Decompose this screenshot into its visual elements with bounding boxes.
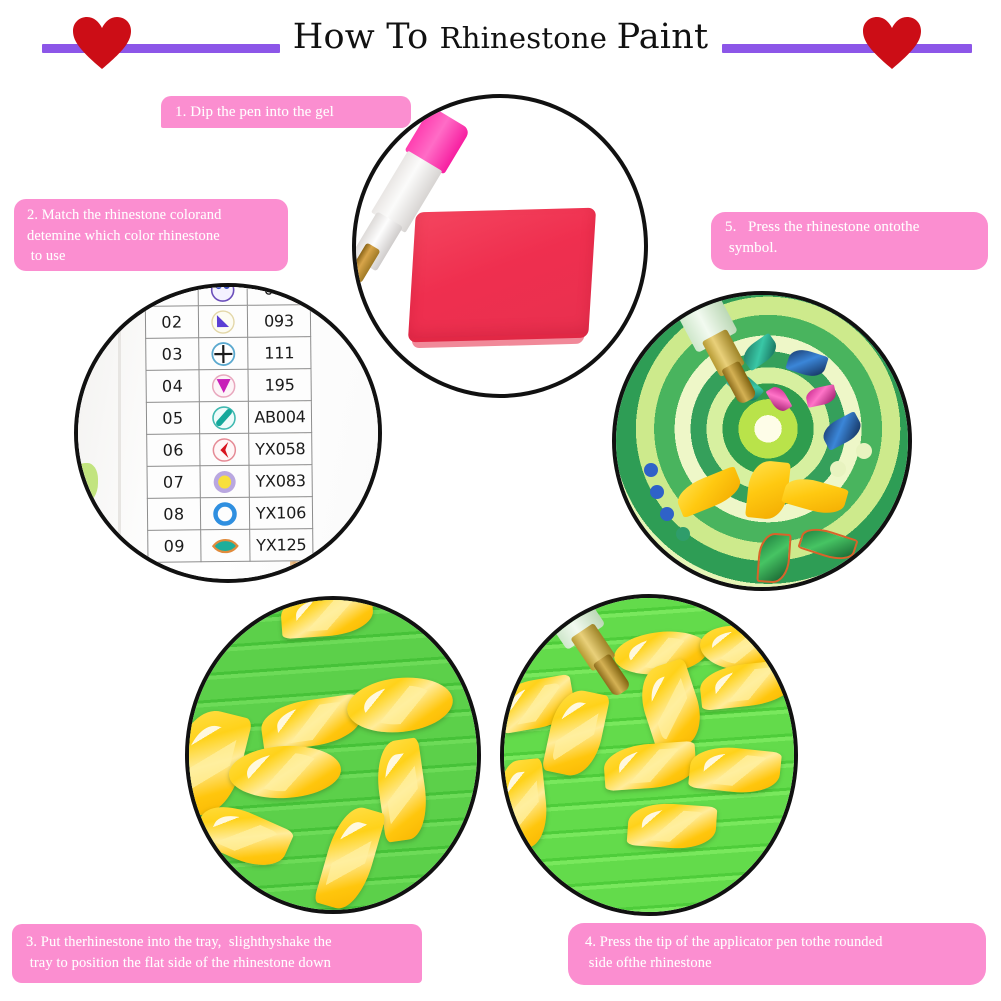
chart-number-cell: 03 (146, 338, 199, 371)
double-dot-circle-symbol (198, 283, 247, 306)
step-4-line-2: side ofthe rhinestone (585, 953, 986, 974)
chart-code-cell: 195 (248, 369, 311, 402)
title-segment-how-to: How To (293, 17, 440, 57)
rhinestone-petal (781, 473, 849, 519)
plus-circle-symbol (199, 337, 248, 370)
chart-number-cell: 04 (146, 370, 199, 403)
chart-code-cell: AB004 (248, 401, 311, 434)
table-row: 09 YX125 (148, 529, 313, 563)
table-row: 02 093 (145, 305, 310, 339)
page-title: How To Rhinestone Paint (0, 17, 1001, 57)
rhinestone-petal (756, 532, 791, 584)
step-2-line-2: detemine which color rhinestone (27, 226, 288, 247)
rhinestone-petal (785, 346, 829, 381)
purple-triangle-symbol (198, 305, 247, 338)
page-header: How To Rhinestone Paint (0, 0, 1001, 86)
step-2-photo: 028 02 093 03 111 04 (74, 283, 382, 583)
chart-page-edge (118, 287, 121, 579)
chart-code-cell: 028 (247, 283, 310, 305)
rhinestone-dot (830, 461, 846, 477)
magenta-triangle-symbol (199, 369, 248, 402)
chart-code-cell: YX125 (250, 529, 313, 562)
chart-number-cell: 02 (145, 306, 198, 339)
rhinestone-petal (804, 384, 837, 408)
table-row: 03 111 (146, 337, 311, 371)
chart-code-cell: YX106 (249, 497, 312, 530)
rhinestone-petal (673, 466, 745, 519)
step-1-photo (352, 94, 648, 398)
rhinestone-dot (644, 463, 658, 477)
rhinestone-dot (660, 507, 674, 521)
chart-code-cell: YX058 (249, 433, 312, 466)
chart-code-cell: 111 (248, 337, 311, 370)
mandala-rhinestones (616, 295, 908, 587)
pen-tip (721, 361, 757, 406)
teal-slash-oval-symbol (199, 401, 248, 434)
step-4-caption: 4. Press the tip of the applicator pen t… (568, 923, 986, 985)
chart-number-cell: 09 (148, 530, 201, 563)
rhinestone-dot (676, 527, 690, 541)
table-row: 05 AB004 (146, 401, 311, 435)
chart-number-cell: 05 (146, 402, 199, 435)
step-3-line-2: tray to position the flat side of the rh… (26, 953, 422, 974)
pen-tip (593, 653, 632, 697)
step-2-line-3: to use (27, 246, 288, 267)
step-2-caption: 2. Match the rhinestone colorand detemin… (14, 199, 288, 271)
table-row: 04 195 (146, 369, 311, 403)
step-4-photo (500, 594, 798, 916)
rhinestone-dot (856, 443, 872, 459)
table-row: 08 YX106 (147, 497, 312, 531)
chart-number-cell: 07 (147, 466, 200, 499)
step-3-line-1: 3. Put therhinestone into the tray, slig… (26, 932, 422, 953)
chart-code-cell: YX083 (249, 465, 312, 498)
chart-number-cell (145, 283, 198, 306)
table-row: 07 YX083 (147, 465, 312, 499)
yellow-dot-ring-symbol (200, 465, 249, 498)
step-4-line-1: 4. Press the tip of the applicator pen t… (585, 932, 986, 953)
step-5-line-2: symbol. (725, 238, 988, 259)
table-row: 06 YX058 (147, 433, 312, 467)
table-row: 028 (145, 283, 310, 306)
step-3-caption: 3. Put therhinestone into the tray, slig… (12, 924, 422, 983)
step-3-photo (185, 596, 481, 914)
rhinestone-petal (797, 523, 858, 565)
gel-pad (408, 208, 596, 343)
chart-code-cell: 093 (247, 305, 310, 338)
blue-ring-symbol (200, 497, 249, 530)
title-segment-rhinestone: Rhinestone (440, 21, 617, 55)
chart-number-cell: 08 (147, 498, 200, 531)
step-2-line-1: 2. Match the rhinestone colorand (27, 205, 288, 226)
rhinestone-color-chart: 028 02 093 03 111 04 (144, 283, 313, 563)
red-arrow-left-symbol (200, 433, 249, 466)
teal-leaf-symbol (201, 529, 250, 562)
title-segment-paint: Paint (617, 17, 709, 57)
step-5-caption: 5. Press the rhinestone ontothe symbol. (711, 212, 988, 270)
step-5-line-1: 5. Press the rhinestone ontothe (725, 217, 988, 238)
chart-number-cell: 06 (147, 434, 200, 467)
step-5-photo (612, 291, 912, 591)
rhinestone-dot (650, 485, 664, 499)
